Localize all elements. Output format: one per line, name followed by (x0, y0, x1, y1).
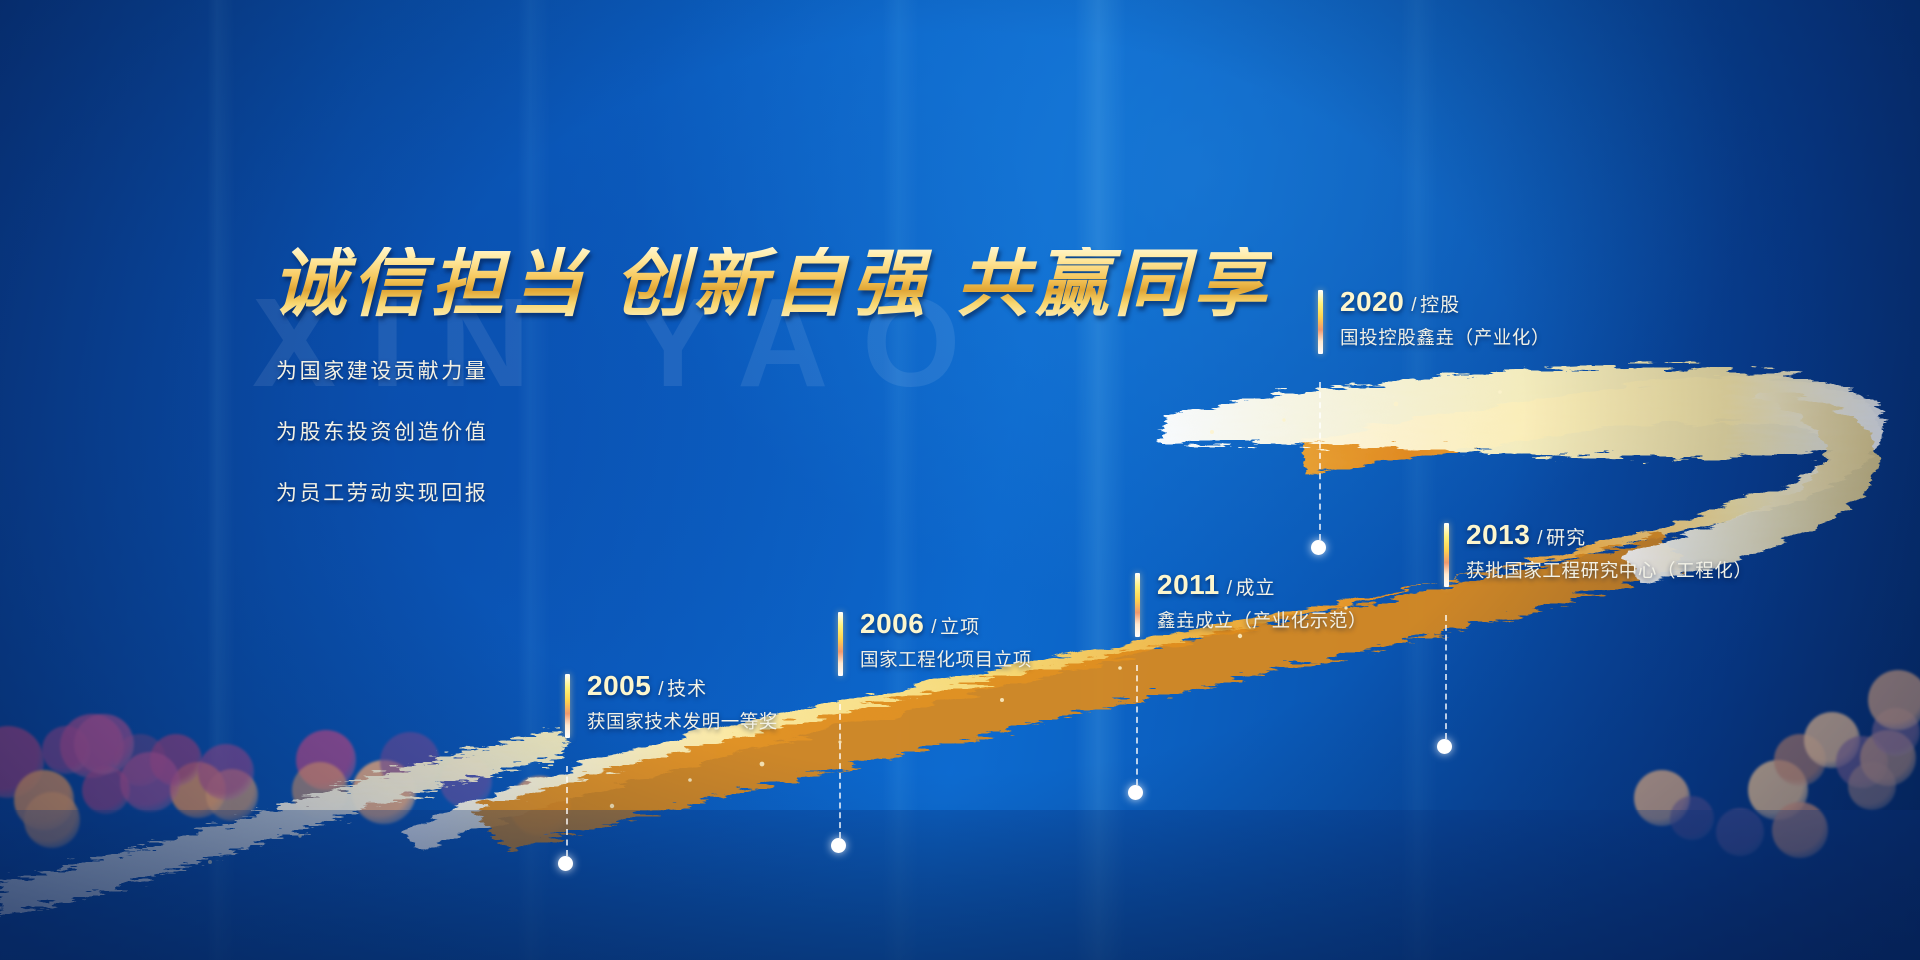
milestone-tag: 立项 (940, 617, 980, 638)
milestone-tag: 研究 (1546, 528, 1586, 549)
milestone-year-row: 2006/立项 (860, 610, 1032, 638)
milestone-year-row: 2020/控股 (1340, 288, 1550, 316)
bokeh-circle (74, 714, 134, 774)
bottom-shade-band (0, 810, 1920, 960)
milestone-description: 国家工程化项目立项 (860, 651, 1032, 670)
milestone-text: 2011/成立鑫垚成立（产业化示范） (1157, 571, 1367, 631)
milestone-accent-bar (1318, 290, 1323, 354)
milestone-connector-line (566, 766, 568, 856)
headline-part-2: 创新自强 (614, 242, 930, 325)
milestone-year-row: 2013/研究 (1466, 521, 1753, 549)
milestone-2011[interactable]: 2011/成立鑫垚成立（产业化示范） (1135, 571, 1367, 631)
milestone-year-row: 2005/技术 (587, 672, 778, 700)
milestone-accent-bar (838, 612, 843, 676)
milestone-dot[interactable] (1311, 540, 1326, 555)
milestone-2005[interactable]: 2005/技术获国家技术发明一等奖 (565, 672, 778, 732)
milestone-description: 获国家技术发明一等奖 (587, 713, 778, 732)
milestone-text: 2006/立项国家工程化项目立项 (860, 610, 1032, 670)
milestone-accent-bar (1135, 573, 1140, 637)
milestone-dot[interactable] (1128, 785, 1143, 800)
milestone-text: 2005/技术获国家技术发明一等奖 (587, 672, 778, 732)
milestone-separator: / (931, 617, 937, 638)
milestone-connector-line (1136, 665, 1138, 785)
milestone-connector-line (1319, 382, 1321, 540)
milestone-separator: / (1411, 295, 1417, 316)
subtitle-line: 为员工劳动实现回报 (276, 477, 488, 507)
milestone-tag: 技术 (667, 679, 707, 700)
milestone-tag: 成立 (1236, 578, 1276, 599)
bokeh-circle (120, 752, 180, 812)
subtitle-line: 为股东投资创造价值 (276, 416, 488, 446)
milestone-accent-bar (1444, 523, 1449, 587)
bokeh-circle (380, 732, 440, 792)
milestone-dot[interactable] (831, 838, 846, 853)
milestone-year: 2020 (1340, 286, 1404, 317)
headline-part-1: 诚信担当 (272, 242, 588, 325)
milestone-2006[interactable]: 2006/立项国家工程化项目立项 (838, 610, 1032, 670)
milestone-description: 国投控股鑫垚（产业化） (1340, 329, 1550, 348)
milestone-dot[interactable] (558, 856, 573, 871)
milestone-text: 2013/研究获批国家工程研究中心（工程化） (1466, 521, 1753, 581)
milestone-tag: 控股 (1420, 295, 1460, 316)
milestone-year: 2006 (860, 608, 924, 639)
milestone-connector-line (1445, 615, 1447, 739)
subtitle-line: 为国家建设贡献力量 (276, 355, 488, 385)
bokeh-circle (1848, 762, 1896, 810)
milestone-separator: / (1227, 578, 1233, 599)
bokeh-circle (1868, 670, 1920, 730)
poster-stage: XIN YAO 诚信担当创新自强共赢同享 为国家建设贡献力量为股东投资创造价值为… (0, 0, 1920, 960)
headline-part-3: 共赢同享 (956, 242, 1272, 325)
milestone-separator: / (658, 679, 664, 700)
subtitle-list: 为国家建设贡献力量为股东投资创造价值为员工劳动实现回报 (276, 355, 488, 538)
milestone-connector-line (839, 704, 841, 838)
milestone-text: 2020/控股国投控股鑫垚（产业化） (1340, 288, 1550, 348)
milestone-2013[interactable]: 2013/研究获批国家工程研究中心（工程化） (1444, 521, 1753, 581)
milestone-accent-bar (565, 674, 570, 738)
milestone-description: 获批国家工程研究中心（工程化） (1466, 562, 1753, 581)
bokeh-circle (198, 744, 254, 800)
milestone-year: 2005 (587, 670, 651, 701)
milestone-year-row: 2011/成立 (1157, 571, 1367, 599)
milestone-year: 2013 (1466, 519, 1530, 550)
milestone-year: 2011 (1157, 569, 1220, 600)
bokeh-circle (440, 756, 492, 808)
page-title: 诚信担当创新自强共赢同享 (272, 247, 1272, 321)
milestone-2020[interactable]: 2020/控股国投控股鑫垚（产业化） (1318, 288, 1550, 348)
milestone-separator: / (1537, 528, 1543, 549)
milestone-dot[interactable] (1437, 739, 1452, 754)
milestone-description: 鑫垚成立（产业化示范） (1157, 612, 1367, 631)
